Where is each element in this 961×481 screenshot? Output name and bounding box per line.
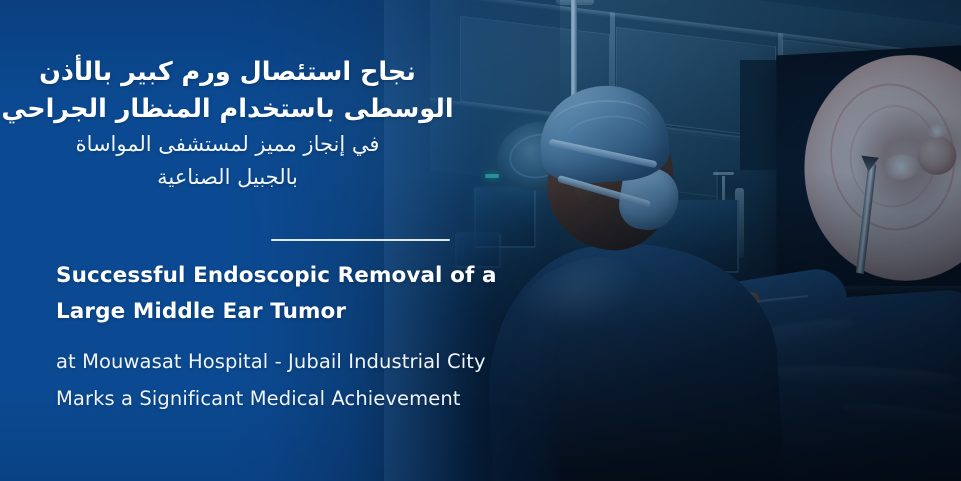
arabic-subtitle: في إنجاز مميز لمستشفى المواساة بالجبيل ا… (0, 128, 455, 194)
english-subtitle-line-1: at Mouwasat Hospital - Jubail Industrial… (56, 343, 526, 380)
english-headline: Successful Endoscopic Removal of a Large… (56, 258, 476, 330)
english-headline-line-1: Successful Endoscopic Removal of a (56, 258, 476, 294)
arabic-subtitle-line-1: في إنجاز مميز لمستشفى المواساة (0, 128, 455, 161)
banner-root: نجاح استئصال ورم كبير بالأذن الوسطى باست… (0, 0, 961, 481)
arabic-headline: نجاح استئصال ورم كبير بالأذن الوسطى باست… (0, 54, 455, 128)
arabic-headline-line-2: الوسطى باستخدام المنظار الجراحي (0, 91, 455, 128)
english-headline-line-2: Large Middle Ear Tumor (56, 294, 476, 330)
english-subtitle: at Mouwasat Hospital - Jubail Industrial… (56, 343, 526, 417)
english-subtitle-line-2: Marks a Significant Medical Achievement (56, 380, 526, 417)
arabic-subtitle-line-2: بالجبيل الصناعية (0, 161, 455, 194)
arabic-headline-line-1: نجاح استئصال ورم كبير بالأذن (0, 54, 455, 91)
text-content: نجاح استئصال ورم كبير بالأذن الوسطى باست… (0, 0, 470, 481)
divider-rule (271, 239, 450, 241)
